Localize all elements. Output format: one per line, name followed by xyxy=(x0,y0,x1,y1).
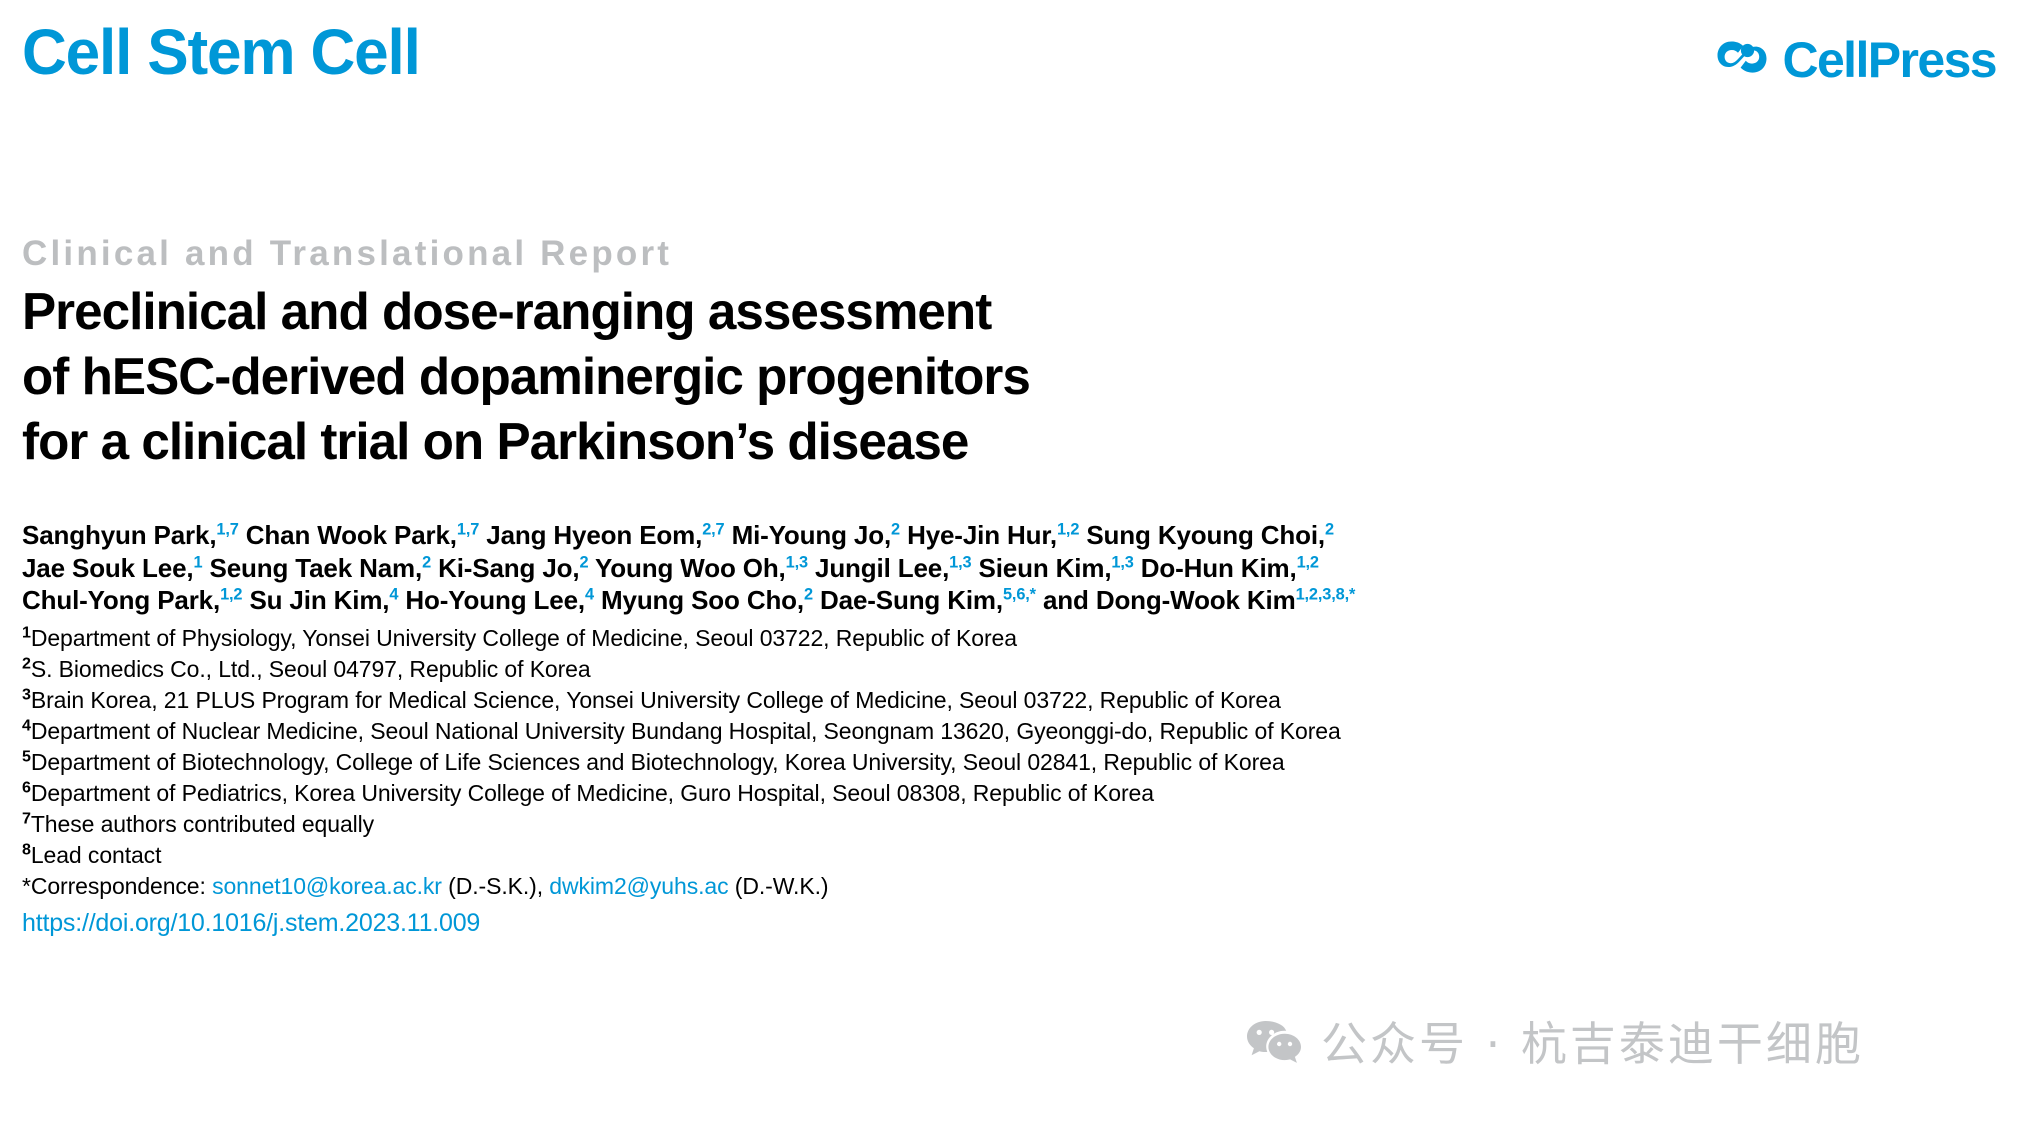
wechat-icon xyxy=(1245,1019,1303,1069)
affiliation-text: These authors contributed equally xyxy=(31,811,374,837)
author-name: Jang Hyeon Eom, xyxy=(486,520,702,550)
affiliation-list: 1Department of Physiology, Yonsei Univer… xyxy=(22,623,1997,871)
affiliation-marker: 7 xyxy=(22,809,31,827)
author-affiliation-marker: 2 xyxy=(804,585,813,603)
author-name: Ki-Sang Jo, xyxy=(438,553,579,583)
journal-masthead: Cell Stem Cell CellPress xyxy=(0,0,2018,130)
author-name: Chan Wook Park, xyxy=(246,520,457,550)
author-name: Do-Hun Kim, xyxy=(1141,553,1297,583)
email-link-dsk[interactable]: sonnet10@korea.ac.kr xyxy=(212,873,442,899)
affiliation-marker: 6 xyxy=(22,778,31,796)
affiliation-text: Department of Nuclear Medicine, Seoul Na… xyxy=(31,718,1341,744)
cellpress-logo: CellPress xyxy=(1716,32,1996,88)
correspondence-initials-dsk: (D.-S.K.), xyxy=(448,873,543,899)
article-type-label: Clinical and Translational Report xyxy=(22,232,1997,276)
affiliation-item: 2S. Biomedics Co., Ltd., Seoul 04797, Re… xyxy=(22,654,1997,685)
author-name: Ho-Young Lee, xyxy=(405,585,585,615)
author-line-1: Sanghyun Park,1,7 Chan Wook Park,1,7 Jan… xyxy=(22,519,1997,552)
affiliation-marker: 2 xyxy=(22,654,31,672)
journal-logo: Cell Stem Cell xyxy=(22,14,420,90)
page-title: Preclinical and dose-ranging assessmento… xyxy=(22,280,1967,475)
affiliation-marker: 3 xyxy=(22,685,31,703)
correspondence-label: *Correspondence: xyxy=(22,873,206,899)
author-line-2: Jae Souk Lee,1 Seung Taek Nam,2 Ki-Sang … xyxy=(22,552,1997,585)
affiliation-item: 1Department of Physiology, Yonsei Univer… xyxy=(22,623,1997,654)
page-title-line-2: of hESC-derived dopaminergic progenitors xyxy=(22,345,1967,410)
author-affiliation-marker: 4 xyxy=(585,585,594,603)
cellpress-loop-icon xyxy=(1716,38,1768,82)
author-name: Mi-Young Jo, xyxy=(732,520,891,550)
doi-link[interactable]: https://doi.org/10.1016/j.stem.2023.11.0… xyxy=(22,907,1997,939)
affiliation-text: Brain Korea, 21 PLUS Program for Medical… xyxy=(31,687,1281,713)
author-name: Myung Soo Cho, xyxy=(601,585,804,615)
author-affiliation-marker: 1,2 xyxy=(220,585,242,603)
author-affiliation-marker: 1,2,3,8,* xyxy=(1296,585,1356,603)
affiliation-marker: 8 xyxy=(22,840,31,858)
affiliation-text: Department of Pediatrics, Korea Universi… xyxy=(31,780,1154,806)
email-link-dwk[interactable]: dwkim2@yuhs.ac xyxy=(549,873,728,899)
affiliation-item: 4Department of Nuclear Medicine, Seoul N… xyxy=(22,716,1997,747)
author-affiliation-marker: 1,2 xyxy=(1057,520,1079,538)
affiliation-text: Department of Biotechnology, College of … xyxy=(31,749,1285,775)
author-affiliation-marker: 1,7 xyxy=(216,520,238,538)
author-affiliation-marker: 2 xyxy=(579,553,588,571)
author-name: Sung Kyoung Choi, xyxy=(1086,520,1325,550)
correspondence-initials-dwk: (D.-W.K.) xyxy=(735,873,829,899)
affiliation-marker: 4 xyxy=(22,716,31,734)
author-name: and Dong-Wook Kim xyxy=(1043,585,1296,615)
author-affiliation-marker: 1 xyxy=(193,553,202,571)
affiliation-marker: 1 xyxy=(22,623,31,641)
article-header: Clinical and Translational Report Precli… xyxy=(22,232,1997,939)
affiliation-marker: 5 xyxy=(22,747,31,765)
affiliation-item: 7These authors contributed equally xyxy=(22,809,1997,840)
author-name: Sieun Kim, xyxy=(979,553,1112,583)
author-affiliation-marker: 5,6,* xyxy=(1003,585,1036,603)
author-name: Chul-Yong Park, xyxy=(22,585,220,615)
author-affiliation-marker: 1,3 xyxy=(1111,553,1133,571)
author-name: Young Woo Oh, xyxy=(595,553,786,583)
cellpress-wordmark: CellPress xyxy=(1782,35,1996,85)
affiliation-text: Department of Physiology, Yonsei Univers… xyxy=(31,625,1017,651)
author-name: Sanghyun Park, xyxy=(22,520,216,550)
affiliation-item: 5Department of Biotechnology, College of… xyxy=(22,747,1997,778)
author-affiliation-marker: 2 xyxy=(891,520,900,538)
page-title-line-1: Preclinical and dose-ranging assessment xyxy=(22,280,1967,345)
author-affiliation-marker: 4 xyxy=(389,585,398,603)
affiliation-text: Lead contact xyxy=(31,842,162,868)
author-affiliation-marker: 2,7 xyxy=(702,520,724,538)
author-affiliation-marker: 1,2 xyxy=(1297,553,1319,571)
author-line-3: Chul-Yong Park,1,2 Su Jin Kim,4 Ho-Young… xyxy=(22,584,1997,617)
author-affiliation-marker: 1,3 xyxy=(949,553,971,571)
author-name: Dae-Sung Kim, xyxy=(820,585,1003,615)
watermark-text: 公众号 · 杭吉泰迪干细胞 xyxy=(1321,1018,1864,1070)
page-title-line-3: for a clinical trial on Parkinson’s dise… xyxy=(22,410,1967,475)
author-name: Jae Souk Lee, xyxy=(22,553,193,583)
author-name: Jungil Lee, xyxy=(815,553,949,583)
correspondence-line: *Correspondence: sonnet10@korea.ac.kr (D… xyxy=(22,871,1997,902)
affiliation-item: 3Brain Korea, 21 PLUS Program for Medica… xyxy=(22,685,1997,716)
wechat-watermark: 公众号 · 杭吉泰迪干细胞 xyxy=(1245,1018,1864,1070)
affiliation-text: S. Biomedics Co., Ltd., Seoul 04797, Rep… xyxy=(31,656,591,682)
author-affiliation-marker: 1,3 xyxy=(786,553,808,571)
affiliation-item: 8Lead contact xyxy=(22,840,1997,871)
author-name: Su Jin Kim, xyxy=(249,585,389,615)
author-name: Seung Taek Nam, xyxy=(210,553,423,583)
author-name: Hye-Jin Hur, xyxy=(907,520,1057,550)
author-affiliation-marker: 2 xyxy=(1325,520,1334,538)
author-affiliation-marker: 2 xyxy=(422,553,431,571)
author-affiliation-marker: 1,7 xyxy=(457,520,479,538)
affiliation-item: 6Department of Pediatrics, Korea Univers… xyxy=(22,778,1997,809)
author-list: Sanghyun Park,1,7 Chan Wook Park,1,7 Jan… xyxy=(22,519,1997,617)
